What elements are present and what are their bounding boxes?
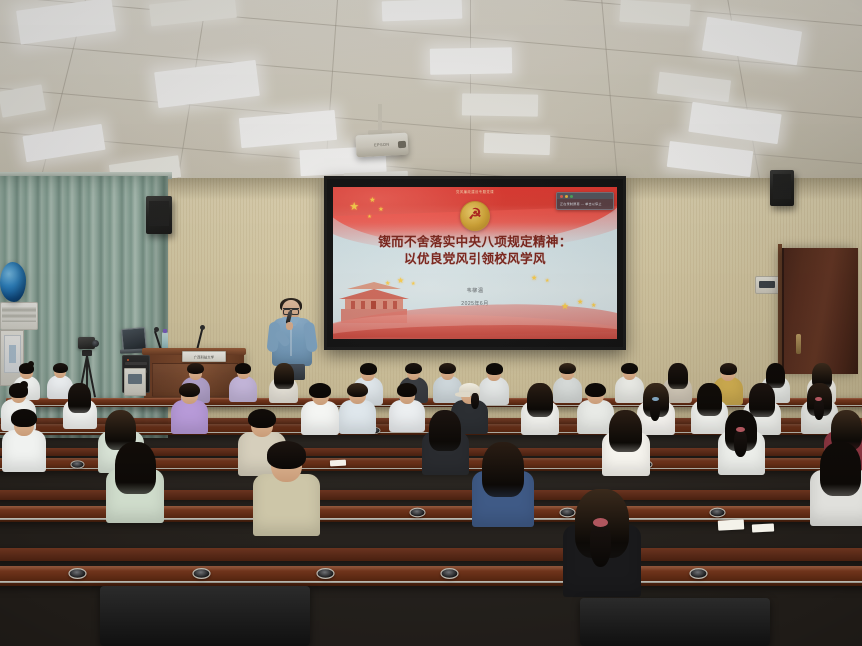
audience-member: [420, 408, 470, 471]
microphone-head: [200, 325, 205, 330]
entrance-door[interactable]: [782, 248, 858, 374]
speaker-grille: [149, 201, 169, 227]
long-hair: [609, 410, 642, 452]
slide-top-tag: 党风廉政建设专题党课: [456, 189, 494, 194]
ceiling-light-panel: [430, 47, 512, 74]
ups-power-unit: [124, 368, 146, 396]
wall-speaker-right: [770, 170, 794, 206]
audience-member-torso: [339, 400, 375, 434]
short-hair: [405, 363, 422, 375]
desk-cable-grommet: [689, 568, 707, 579]
audience-member: [300, 382, 340, 432]
desk-paper: [330, 460, 346, 467]
podium-nameplate: 广西科技大学: [182, 351, 226, 362]
bottle-cap: [163, 329, 167, 333]
slide-title-line-1: 锲而不舍落实中央八项规定精神：: [333, 233, 617, 250]
audience-member-torso: [229, 376, 257, 402]
star-icon: ★: [591, 303, 596, 309]
short-hair: [235, 363, 251, 374]
poster-graphic: [9, 345, 16, 363]
audience-member-torso: [171, 400, 207, 434]
projection-screen: ★ ★ ★ ★ 党风廉政建设专题党课 ☭ 锲而不舍落实中央八项规定精神： 以优良…: [333, 187, 617, 339]
slide-stars-bottom-right: ★ ★ ★: [561, 299, 611, 317]
ac-vents: [2, 307, 35, 322]
desk-metal-trim: [0, 581, 862, 583]
star-icon: ★: [577, 299, 583, 306]
bench-seat-back: [0, 548, 862, 561]
star-icon: ★: [531, 275, 537, 282]
audience-member: [0, 408, 48, 468]
slide-title-line-2: 以优良党风引领校风学风: [333, 250, 617, 267]
audience-member-torso: [2, 430, 47, 471]
notification-dot-yellow: [565, 195, 568, 198]
hammer-sickle-glyph: ☭: [468, 207, 481, 222]
long-hair: [482, 442, 524, 496]
short-hair: [585, 383, 606, 398]
short-hair: [187, 363, 204, 375]
podium-nameplate-text: 广西科技大学: [183, 354, 225, 359]
audience-member: [560, 486, 644, 591]
ponytail: [734, 430, 747, 457]
short-hair: [309, 383, 331, 398]
star-icon: ★: [411, 282, 415, 287]
audience-member: [104, 440, 167, 518]
star-icon: ★: [369, 197, 375, 204]
lecture-hall-photo: EPSON ★ ★: [0, 0, 862, 646]
short-hair: [397, 383, 417, 397]
short-hair: [360, 363, 377, 375]
ac-panel-display: [759, 281, 775, 288]
audience-member: [338, 382, 377, 431]
short-hair: [439, 363, 456, 375]
short-hair: [248, 409, 276, 428]
audience-member: [520, 382, 560, 432]
star-icon: ★: [378, 207, 383, 213]
short-hair: [53, 363, 68, 374]
long-hair: [115, 442, 155, 494]
lecture-desk: [0, 566, 862, 586]
star-icon: ★: [349, 202, 359, 213]
ponytail: [471, 393, 479, 408]
audience-member: [170, 382, 209, 431]
star-icon: ★: [367, 215, 371, 220]
ups-display: [128, 374, 142, 384]
slide-stars-mid-left: ★ ★ ★: [385, 277, 425, 291]
audience-member: [250, 440, 323, 531]
star-icon: ★: [545, 279, 549, 284]
audience-member: [470, 440, 536, 523]
projector-lens: [398, 141, 406, 148]
short-hair: [559, 363, 576, 375]
short-hair: [11, 409, 37, 427]
ponytail: [590, 522, 611, 567]
cap-brim: [455, 392, 470, 396]
hair-scrunchie: [593, 518, 608, 527]
projector-brand-label: EPSON: [374, 142, 390, 148]
long-hair: [429, 410, 461, 451]
wall-speaker-left: [146, 196, 172, 234]
long-hair: [274, 363, 294, 389]
screen-recording-notification[interactable]: 正在录制屏幕 — 单击以停止: [556, 192, 614, 210]
short-hair: [621, 363, 638, 375]
audience-member-torso: [301, 401, 338, 436]
microphone-head: [154, 327, 159, 332]
short-hair: [179, 383, 200, 398]
notification-text: 正在录制屏幕 — 单击以停止: [560, 201, 602, 206]
wall-air-conditioner: [0, 302, 38, 330]
audience-member: [600, 408, 652, 472]
short-hair: [347, 383, 368, 398]
camera-lens-icon: [92, 340, 99, 347]
short-hair: [486, 363, 503, 375]
chair-backrest: [100, 586, 310, 646]
desk-paper: [718, 519, 744, 530]
star-icon: ★: [397, 277, 404, 285]
short-hair: [720, 363, 737, 375]
notification-dot-red: [560, 195, 563, 198]
rack-power-led: [127, 359, 129, 361]
party-emblem-icon: ☭: [460, 201, 490, 231]
long-hair: [820, 442, 862, 495]
presenter-hand: [286, 322, 293, 330]
slide-flag-stars: ★ ★ ★ ★: [347, 196, 421, 232]
slide-title: 锲而不舍落实中央八项规定精神： 以优良党风引领校风学风: [333, 233, 617, 268]
short-hair: [267, 441, 306, 468]
ceiling-light-panel: [462, 93, 538, 116]
hair-bun: [28, 361, 34, 367]
audience-member: [808, 440, 862, 521]
door-handle[interactable]: [796, 334, 801, 354]
desk-cable-grommet: [193, 568, 211, 579]
hair-bun: [20, 381, 28, 389]
long-hair: [527, 383, 553, 416]
rack-strip: [125, 362, 147, 365]
audience-member: [228, 362, 258, 400]
desk-paper: [752, 523, 774, 532]
star-icon: ★: [385, 281, 390, 287]
ceiling-light-panel: [382, 0, 463, 21]
desk-edge-highlight: [0, 566, 862, 571]
ceiling: EPSON: [0, 0, 862, 186]
ceiling-light-panel: [484, 133, 551, 155]
chair-backrest: [580, 598, 770, 646]
desk-cable-grommet: [71, 460, 85, 468]
star-icon: ★: [561, 302, 569, 311]
projection-screen-frame: ★ ★ ★ ★ 党风廉政建设专题党课 ☭ 锲而不舍落实中央八项规定精神： 以优良…: [324, 176, 626, 350]
speaker-grille: [773, 174, 791, 198]
long-hair: [68, 383, 91, 412]
projector-mount-pole: [378, 104, 382, 132]
desk-metal-trim: [6, 405, 862, 406]
desk-cable-grommet: [68, 568, 86, 579]
audience-member: [716, 408, 766, 471]
slide-stars-mid-right: ★ ★: [531, 273, 565, 287]
notification-dot-green: [570, 195, 573, 198]
audience-member-torso: [253, 474, 321, 536]
blue-balloon: [0, 262, 26, 302]
audience-member: [62, 382, 98, 427]
audience-member: [268, 362, 299, 401]
